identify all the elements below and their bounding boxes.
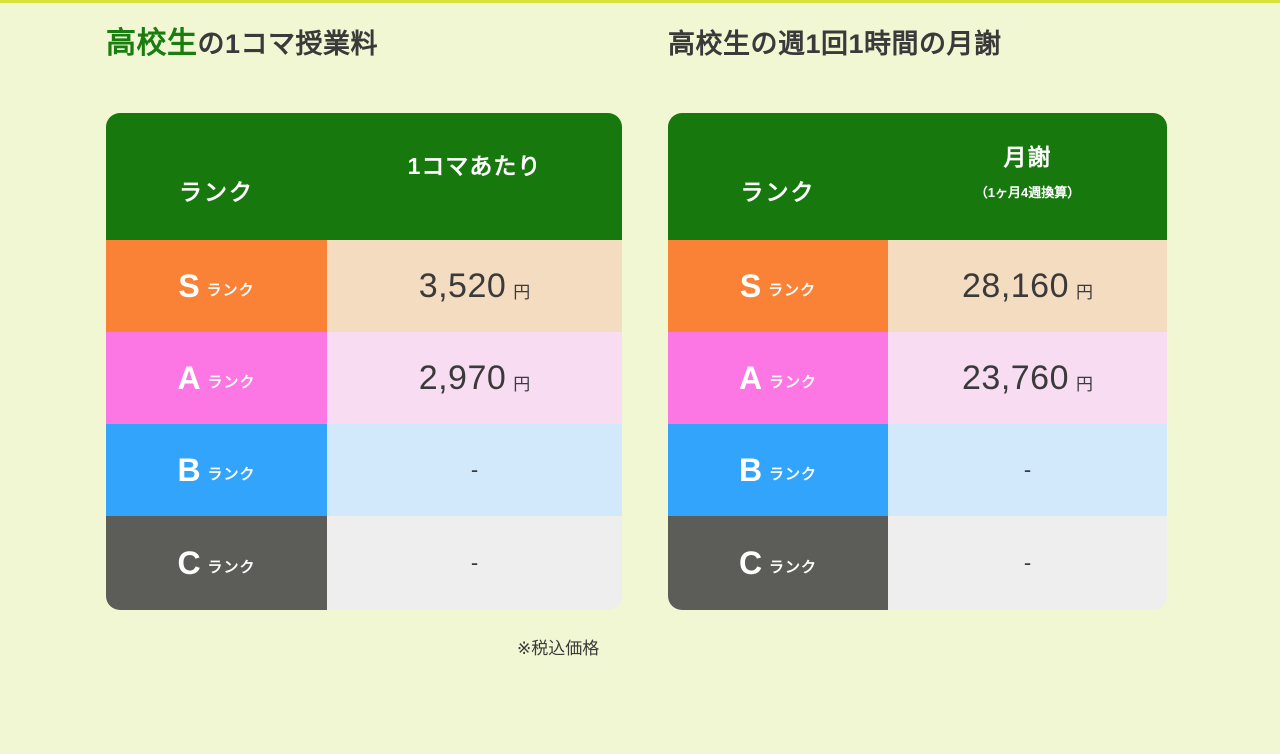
value-dash: - [1024, 550, 1031, 576]
header-cell-value-left: 1コマあたり [327, 113, 622, 240]
rank-letter: S [740, 270, 761, 302]
value-dash: - [471, 550, 478, 576]
panel-monthly-fee: 高校生の週1回1時間の月謝 ランク 月謝 （1ヶ月4週換算） S ランク 28,… [668, 24, 1167, 64]
table-row: S ランク 3,520 円 [106, 240, 622, 332]
header-cell-value-right: 月謝 （1ヶ月4週換算） [888, 113, 1167, 240]
header-rank-label-left: ランク [179, 173, 254, 207]
value-unit: 円 [513, 370, 530, 395]
rank-cell-b-left: B ランク [106, 424, 327, 516]
rank-letter: S [178, 270, 199, 302]
page-title-left-highlight: 高校生 [106, 27, 198, 60]
rank-letter: C [177, 547, 200, 579]
value-cell-b-right: - [888, 424, 1167, 516]
rank-cell-a-right: A ランク [668, 332, 888, 424]
value-dash: - [1024, 457, 1031, 483]
table-header-right: ランク 月謝 （1ヶ月4週換算） [668, 113, 1167, 240]
table-row: C ランク - [106, 516, 622, 610]
rank-word: ランク [769, 371, 817, 392]
pricing-slide: 高校生の1コマ授業料 ランク 1コマあたり S ランク 3,520 円 [0, 0, 1280, 720]
value-cell-a-left: 2,970 円 [327, 332, 622, 424]
rank-letter: B [177, 454, 200, 486]
table-row: A ランク 2,970 円 [106, 332, 622, 424]
table-row: B ランク - [668, 424, 1167, 516]
rank-cell-c-left: C ランク [106, 516, 327, 610]
rank-cell-a-left: A ランク [106, 332, 327, 424]
value-cell-c-right: - [888, 516, 1167, 610]
header-cell-rank-right: ランク [668, 113, 888, 240]
rank-letter: C [739, 547, 762, 579]
rank-word: ランク [208, 556, 256, 577]
value-amount: 28,160 [962, 267, 1069, 306]
header-value-label-left: 1コマあたり [408, 147, 542, 181]
table-header-left: ランク 1コマあたり [106, 113, 622, 240]
header-value-label-right: 月謝 [1004, 138, 1052, 172]
page-title-left-rest: の1コマ授業料 [198, 29, 379, 59]
rank-price-table-left: ランク 1コマあたり S ランク 3,520 円 A ラ [106, 113, 622, 610]
value-cell-s-left: 3,520 円 [327, 240, 622, 332]
rank-word: ランク [768, 279, 816, 300]
value-cell-s-right: 28,160 円 [888, 240, 1167, 332]
rank-cell-s-left: S ランク [106, 240, 327, 332]
rank-letter: A [177, 362, 200, 394]
value-amount: 23,760 [962, 359, 1069, 398]
table-row: C ランク - [668, 516, 1167, 610]
header-value-sublabel-right: （1ヶ月4週換算） [975, 182, 1080, 201]
rank-word: ランク [769, 463, 817, 484]
page-title-right-rest: 高校生の週1回1時間の月謝 [668, 29, 1002, 59]
page-title-right: 高校生の週1回1時間の月謝 [668, 24, 1167, 64]
header-cell-rank-left: ランク [106, 113, 327, 240]
rank-cell-b-right: B ランク [668, 424, 888, 516]
table-row: S ランク 28,160 円 [668, 240, 1167, 332]
rank-letter: B [739, 454, 762, 486]
value-dash: - [471, 457, 478, 483]
rank-word: ランク [769, 556, 817, 577]
value-cell-c-left: - [327, 516, 622, 610]
rank-cell-c-right: C ランク [668, 516, 888, 610]
value-cell-b-left: - [327, 424, 622, 516]
panel-per-lesson: 高校生の1コマ授業料 ランク 1コマあたり S ランク 3,520 円 [106, 24, 622, 64]
table-row: A ランク 23,760 円 [668, 332, 1167, 424]
value-unit: 円 [1076, 278, 1093, 303]
page-title-left: 高校生の1コマ授業料 [106, 24, 622, 64]
value-unit: 円 [1076, 370, 1093, 395]
value-cell-a-right: 23,760 円 [888, 332, 1167, 424]
header-rank-label-right: ランク [741, 173, 816, 207]
rank-word: ランク [207, 279, 255, 300]
rank-cell-s-right: S ランク [668, 240, 888, 332]
rank-word: ランク [208, 371, 256, 392]
value-amount: 2,970 [419, 359, 507, 398]
rank-word: ランク [208, 463, 256, 484]
rank-letter: A [739, 362, 762, 394]
rank-price-table-right: ランク 月謝 （1ヶ月4週換算） S ランク 28,160 円 [668, 113, 1167, 610]
value-amount: 3,520 [419, 267, 507, 306]
value-unit: 円 [513, 278, 530, 303]
footnote-left: ※税込価格 [517, 634, 599, 659]
table-row: B ランク - [106, 424, 622, 516]
